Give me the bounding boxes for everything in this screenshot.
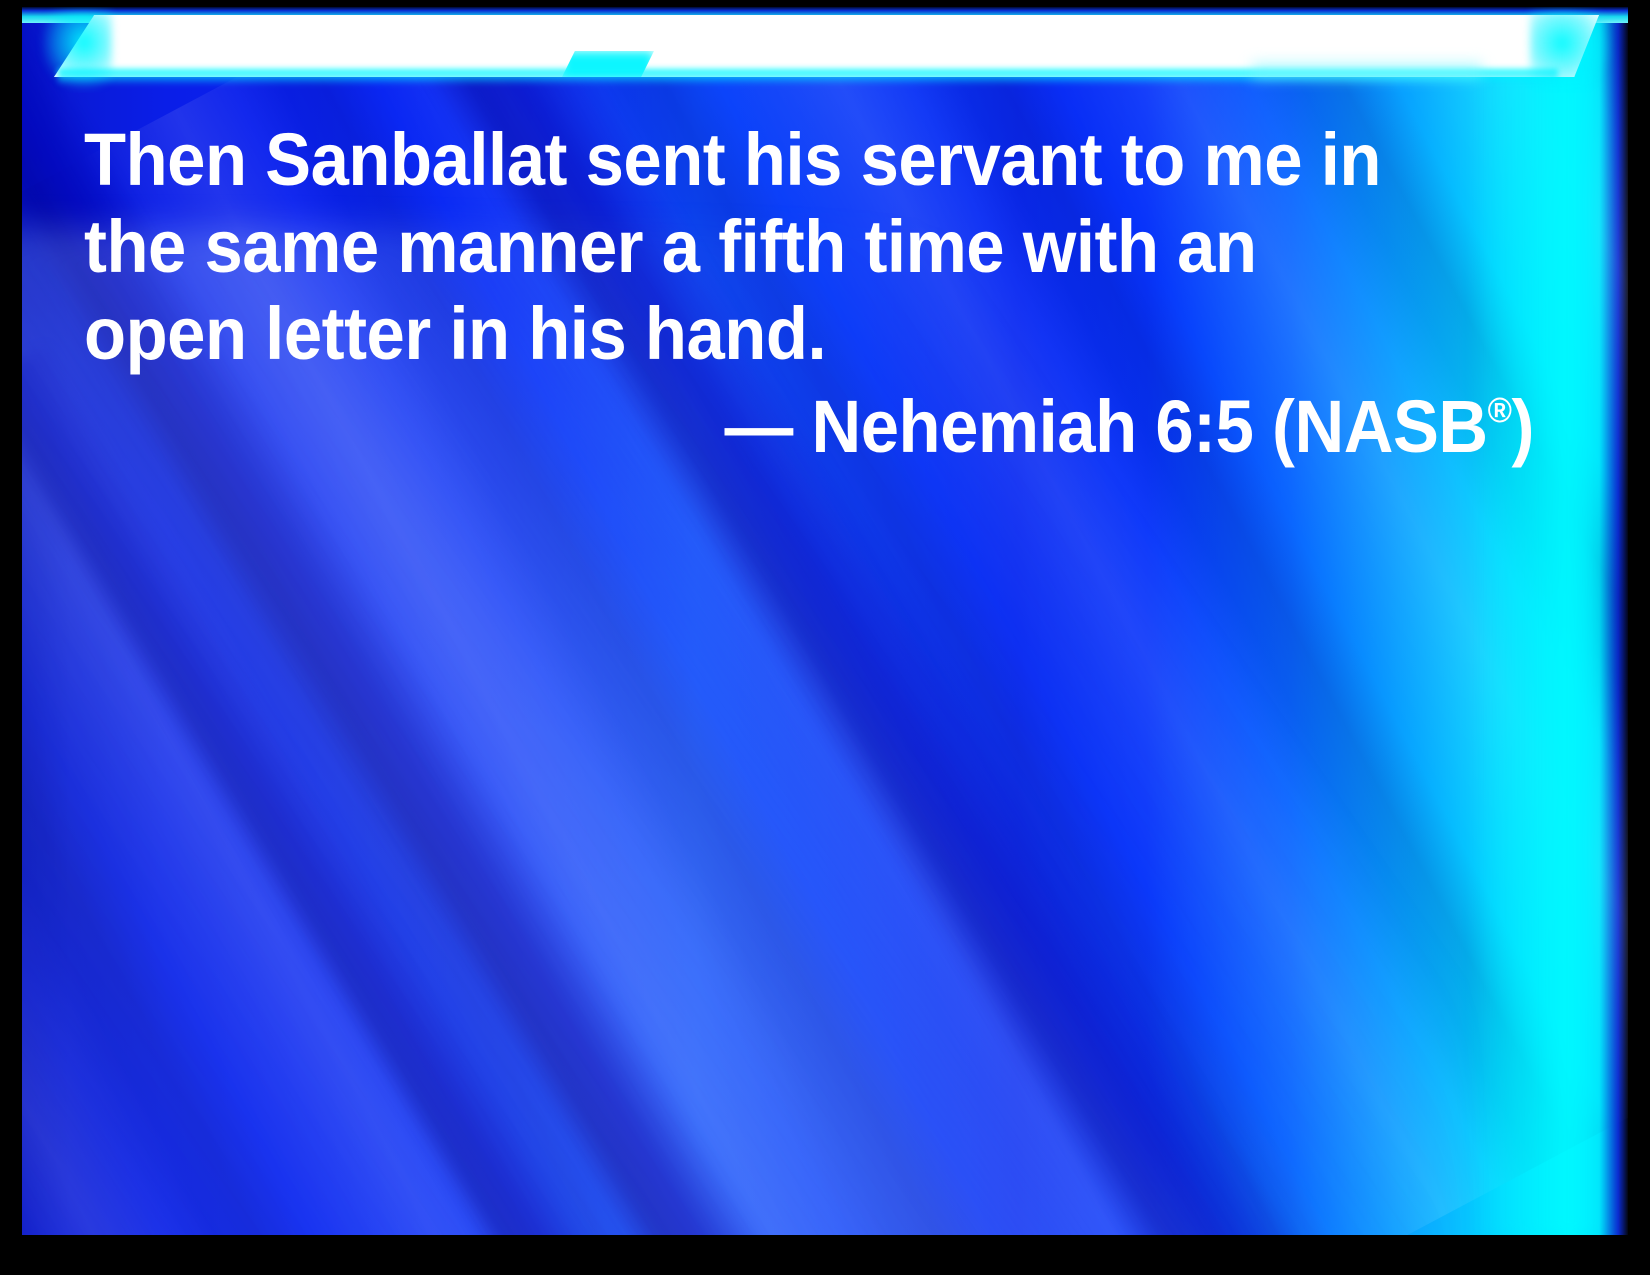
verse-attribution: — Nehemiah 6:5 (NASB®): [186, 383, 1535, 470]
attribution-dash: —: [724, 385, 792, 468]
attribution-book: Nehemiah: [811, 385, 1136, 468]
verse-line-2: the same manner a fifth time with an: [84, 203, 1433, 290]
top-cyan-blob-secondary: [1252, 63, 1482, 79]
attribution-version-close: ): [1512, 385, 1534, 468]
attribution-reference: 6:5: [1155, 385, 1253, 468]
verse-slide: Then Sanballat sent his servant to me in…: [0, 0, 1650, 1275]
attribution-version-open: (NASB: [1272, 385, 1488, 468]
registered-trademark-icon: ®: [1488, 390, 1512, 430]
top-cyan-blob: [562, 51, 654, 77]
top-left-glow: [42, 11, 112, 89]
top-glow-bar: [22, 7, 1628, 93]
verse-line-1: Then Sanballat sent his servant to me in: [84, 116, 1433, 203]
verse-text-block: Then Sanballat sent his servant to me in…: [84, 116, 1534, 470]
top-right-glow: [1530, 11, 1610, 91]
verse-line-3: open letter in his hand.: [84, 290, 1433, 377]
